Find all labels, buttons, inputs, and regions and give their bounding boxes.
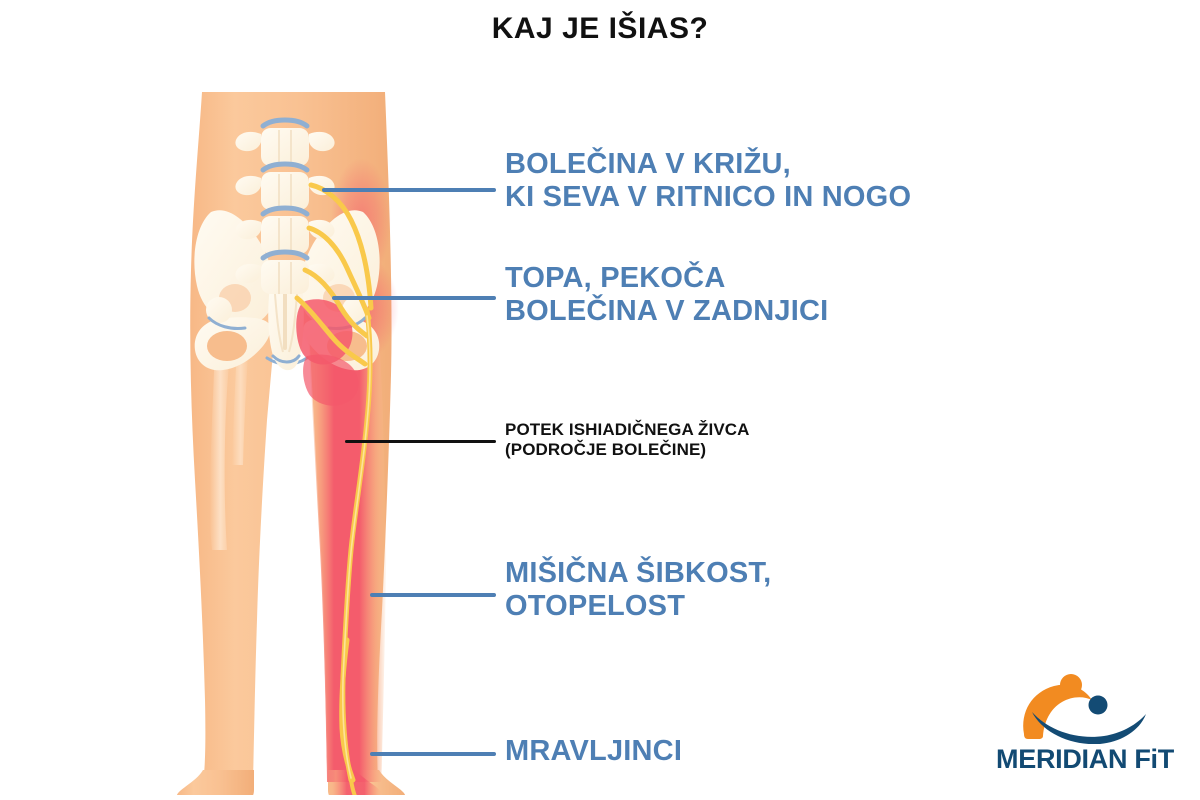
leader-line-tingling: [370, 752, 496, 756]
two-figures-swoosh-icon: [1010, 672, 1160, 744]
infographic-page: KAJ JE IŠIAS?: [0, 0, 1200, 800]
logo-wordmark: MERIDIAN FiT: [985, 744, 1185, 775]
logo-text-main: MERIDIAN F: [996, 744, 1151, 774]
leader-line-buttock-pain: [332, 296, 496, 300]
leader-line-nerve-path: [345, 440, 496, 443]
callout-nerve-path: POTEK ISHIADIČNEGA ŽIVCA (PODROČJE BOLEČ…: [505, 420, 750, 461]
logo-text-tail: T: [1158, 744, 1174, 774]
callout-low-back-pain: BOLEČINA V KRIŽU, KI SEVA V RITNICO IN N…: [505, 148, 911, 214]
meridian-fit-logo[interactable]: MERIDIAN FiT: [985, 672, 1185, 787]
leader-line-muscle-weakness: [370, 593, 496, 597]
page-title: KAJ JE IŠIAS?: [0, 12, 1200, 46]
callout-tingling: MRAVLJINCI: [505, 735, 682, 768]
callout-muscle-weakness: MIŠIČNA ŠIBKOST, OTOPELOST: [505, 557, 771, 623]
callout-buttock-pain: TOPA, PEKOČA BOLEČINA V ZADNJICI: [505, 262, 828, 328]
leader-line-low-back-pain: [322, 188, 496, 192]
logo-text-i: i: [1151, 744, 1158, 774]
